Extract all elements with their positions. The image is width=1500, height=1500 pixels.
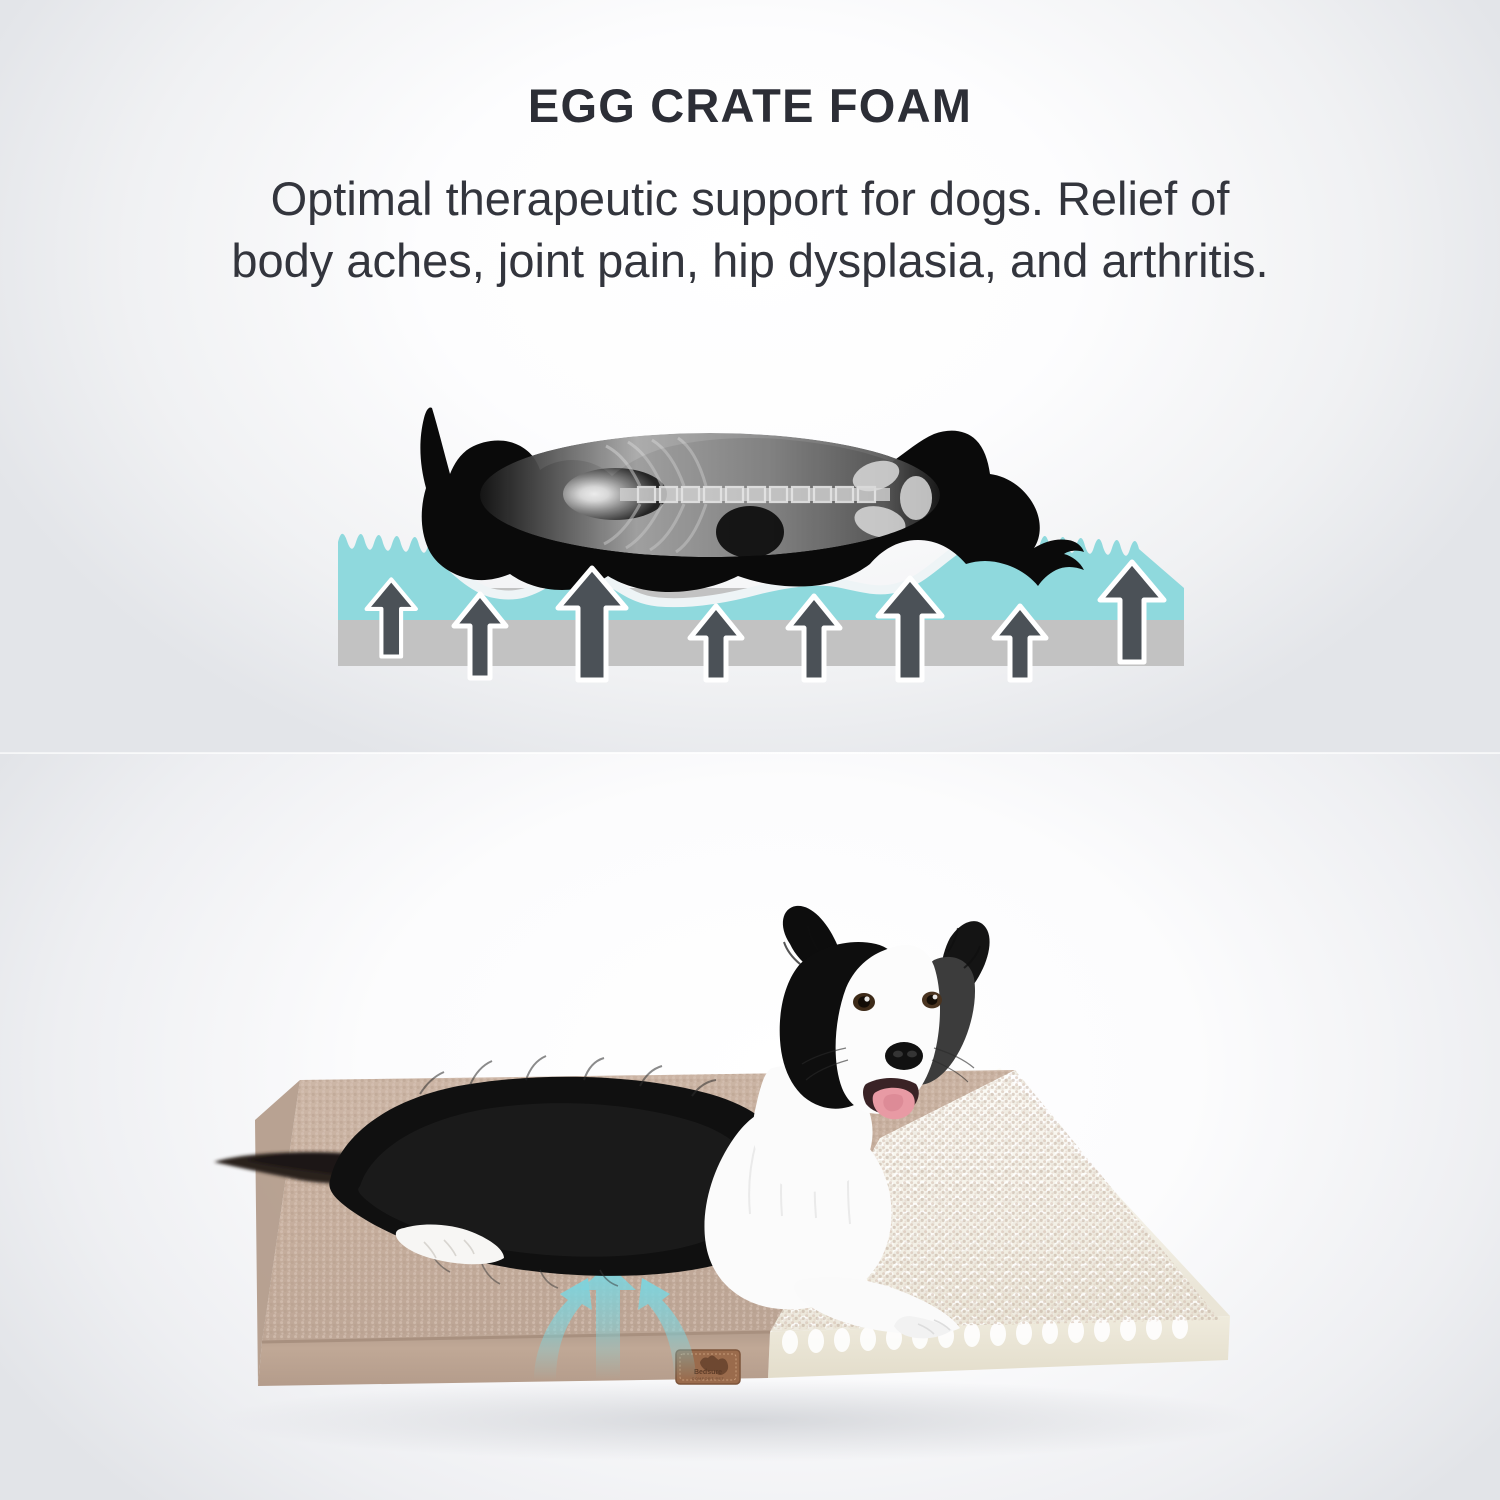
foam-support-diagram <box>320 390 1200 680</box>
spine-xray-overlay <box>480 433 940 558</box>
svg-text:COMFORT PET: COMFORT PET <box>692 1377 725 1381</box>
egg-crate-foam-section: EGG CRATE FOAM Optimal therapeutic suppo… <box>0 0 1500 753</box>
page-title-egg-crate-foam: EGG CRATE FOAM <box>0 78 1500 133</box>
product-infographic: EGG CRATE FOAM Optimal therapeutic suppo… <box>0 0 1500 1500</box>
svg-text:Bedsure: Bedsure <box>694 1369 722 1376</box>
dog-nose <box>885 1042 923 1070</box>
bed-shadow <box>220 1378 1260 1462</box>
subheading-block: Optimal therapeutic support for dogs. Re… <box>50 168 1450 292</box>
subheading-line-2: body aches, joint pain, hip dysplasia, a… <box>50 230 1450 292</box>
dog-bed-photo: Bedsure COMFORT PET <box>0 880 1500 1500</box>
subheading-line-1: Optimal therapeutic support for dogs. Re… <box>50 168 1450 230</box>
